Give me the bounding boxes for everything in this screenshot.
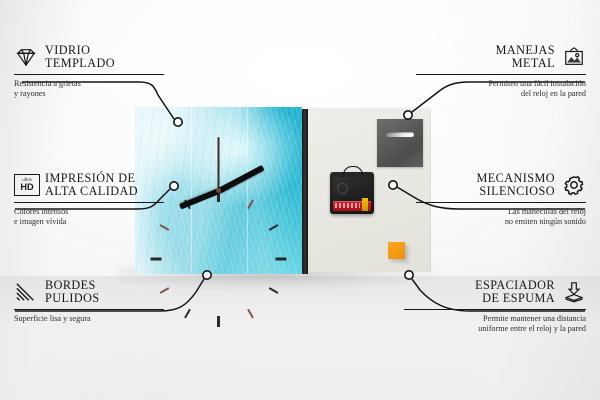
callout-mecanismo-silencioso: MECANISMO SILENCIOSO Las manecillas del … [416, 172, 586, 228]
callout-desc-line2: y rayones [14, 89, 46, 98]
polished-edges-icon [14, 281, 38, 303]
callout-desc-line1: Colores intensos [14, 207, 68, 216]
callout-desc-line2: e imagen vívida [14, 217, 66, 226]
node-manejas [404, 111, 412, 119]
callout-divider [14, 202, 164, 203]
callout-manejas-metal: MANEJAS METAL Permiten una fácil instala… [416, 44, 586, 100]
callout-desc-line1: Permiten una fácil instalación [488, 79, 586, 88]
callout-title-line2: SILENCIOSO [479, 184, 555, 198]
node-vidrio [174, 118, 182, 126]
foam-spacer-icon [562, 281, 586, 303]
callout-title-line1: BORDES [45, 278, 96, 292]
callout-desc-line1: Superficie lisa y segura [14, 314, 91, 323]
callout-divider [416, 74, 586, 75]
callout-espaciador-espuma: ESPACIADOR DE ESPUMA Permite mantener un… [404, 279, 586, 335]
callout-divider [14, 74, 164, 75]
callout-title-line1: VIDRIO [45, 43, 90, 57]
gear-icon [562, 174, 586, 196]
callout-desc-line2: del reloj en la pared [521, 89, 586, 98]
callout-desc-line1: Resistencia a grietas [14, 79, 81, 88]
node-mecanismo [389, 181, 397, 189]
callout-desc-line1: Las manecillas del reloj [508, 207, 586, 216]
callout-title-line1: IMPRESIÓN DE [45, 171, 135, 185]
callout-title-line2: METAL [512, 56, 555, 70]
ultra-hd-icon-main-label: HD [20, 183, 33, 192]
callout-title-line1: MANEJAS [496, 43, 555, 57]
callout-title-line2: TEMPLADO [45, 56, 115, 70]
callout-bordes-pulidos: BORDES PULIDOS Superficie lisa y segura [14, 279, 164, 324]
callout-divider [416, 202, 586, 203]
infographic-canvas: VIDRIO TEMPLADO Resistencia a grietas y … [0, 0, 600, 400]
callout-title-line2: ALTA CALIDAD [45, 184, 138, 198]
callout-divider [14, 309, 164, 310]
ultra-hd-icon: ultra HD [14, 174, 38, 196]
callout-title-line1: MECANISMO [476, 171, 555, 185]
node-impresion [170, 182, 178, 190]
callout-impresion-alta-calidad: ultra HD IMPRESIÓN DE ALTA CALIDAD Color… [14, 172, 164, 228]
diamond-icon [14, 46, 38, 68]
callout-divider [404, 309, 586, 310]
callout-desc-line2: uniforme entre el reloj y la pared [478, 324, 586, 333]
callout-desc-line1: Permite mantener una distancia [483, 314, 586, 323]
callout-vidrio-templado: VIDRIO TEMPLADO Resistencia a grietas y … [14, 44, 164, 100]
node-bordes [203, 271, 211, 279]
picture-hanger-icon [562, 46, 586, 68]
callout-desc-line2: no emiten ningún sonido [505, 217, 586, 226]
callout-title-line1: ESPACIADOR [475, 278, 555, 292]
callout-title-line2: PULIDOS [45, 291, 100, 305]
node-espuma [405, 271, 413, 279]
callout-title-line2: DE ESPUMA [482, 291, 555, 305]
